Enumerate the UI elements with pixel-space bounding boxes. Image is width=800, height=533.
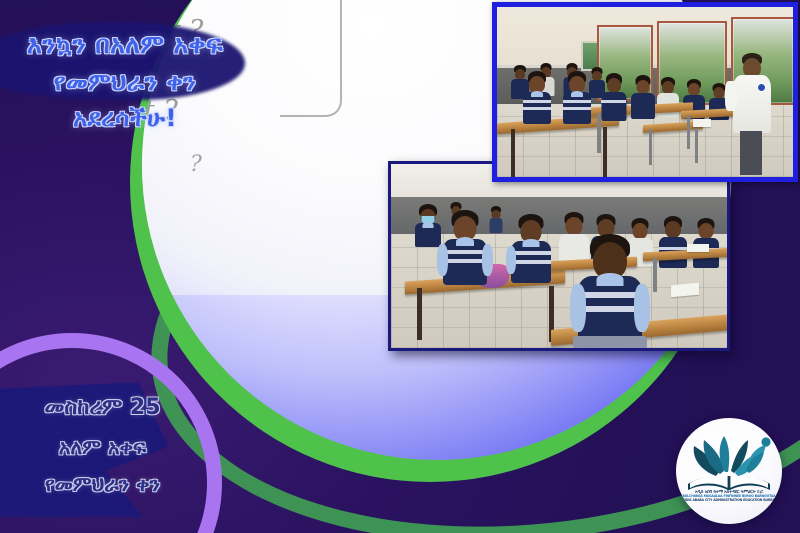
student-figure — [577, 236, 643, 350]
desk-leg — [695, 127, 698, 163]
desk-leg — [511, 129, 515, 179]
education-bureau-logo: አዲስ አበባ ከተማ አስተዳደር ትምህርት ቢሮ BULCHIINSA M… — [676, 418, 782, 524]
students-scene — [391, 164, 727, 348]
headline-line-3: አደረሳችሁ! — [0, 100, 250, 136]
classroom-teacher-photo — [492, 2, 798, 182]
student-figure — [443, 212, 487, 284]
teacher-figure — [733, 55, 771, 177]
date-line-1: መስከረም 25 — [0, 388, 205, 429]
headline-line-1: እንኳን በአለም አቀፍ — [0, 26, 250, 64]
student-figure — [511, 216, 551, 282]
headline-text-block: እንኳን በአለም አቀፍ የመምህራን ቀን አደረሳችሁ! — [0, 26, 250, 137]
desk-leg — [653, 258, 657, 292]
desk-leg — [417, 288, 422, 340]
student-figure — [563, 73, 591, 123]
headline-line-2: የመምህራን ቀን — [0, 64, 250, 100]
desk-leg — [603, 127, 607, 179]
student-figure — [659, 218, 687, 268]
classroom-students-photo — [388, 161, 730, 351]
logo-text-block: አዲስ አበባ ከተማ አስተዳደር ትምህርት ቢሮ BULCHIINSA M… — [676, 491, 782, 502]
logo-text-english: ADDIS ABABA CITY ADMINISTRATION EDUCATIO… — [676, 499, 782, 502]
paper-sheet — [671, 283, 699, 297]
desk-leg — [649, 129, 652, 165]
student-figure — [601, 75, 626, 121]
whiteboard-line-4: ? — [190, 152, 202, 177]
paper-sheet — [693, 119, 711, 127]
date-text-block: መስከረም 25 አለም አቀፍ የመምህራን ቀን — [0, 388, 205, 503]
date-line-2: አለም አቀፍ — [0, 429, 205, 466]
logo-emblem-icon — [676, 426, 782, 492]
desk-leg — [687, 115, 690, 149]
student-figure — [523, 73, 551, 123]
student-figure — [631, 77, 655, 119]
student-figure — [415, 206, 441, 246]
date-line-3: የመምህራን ቀን — [0, 466, 205, 503]
teacher-scene — [497, 7, 793, 177]
paper-sheet — [687, 244, 709, 252]
poster-canvas: Present Simple hat ? hat ? t ? ? እንኳን በአ… — [0, 0, 800, 533]
student-figure — [489, 208, 502, 232]
whiteboard-arrow-bracket — [280, 0, 342, 117]
